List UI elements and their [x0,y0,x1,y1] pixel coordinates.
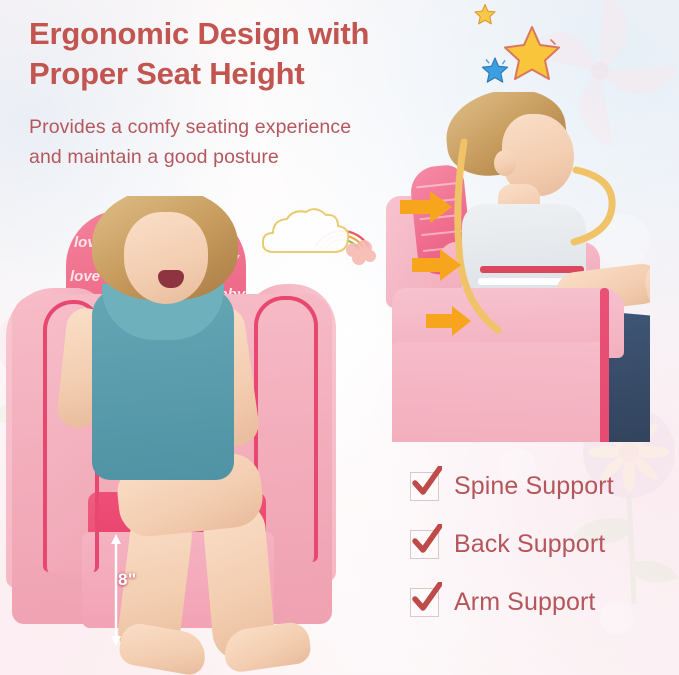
girl-foot-left [117,621,209,675]
list-item[interactable]: Arm Support [410,573,670,631]
checkbox-spine-support[interactable] [410,472,439,501]
feature-label: Arm Support [454,588,595,617]
seat-height-measure-line [108,533,124,647]
page-title-line2: Proper Seat Height [29,54,469,94]
photo-boy-in-chair [378,92,650,442]
star-blue-icon [480,56,510,85]
star-large-icon [502,24,562,82]
feature-label: Spine Support [454,472,614,501]
feature-list: Spine Support Back Support Arm Support [410,457,670,631]
check-icon [412,466,442,500]
star-small-icon [473,3,497,26]
checkbox-arm-support[interactable] [410,588,439,617]
list-item[interactable]: Spine Support [410,457,670,515]
girl-face [124,212,208,304]
check-icon [412,524,442,558]
product-feature-image: Ergonomic Design with Proper Seat Height… [0,0,679,675]
feature-label: Back Support [454,530,605,559]
seat-height-label: 8" [118,570,137,590]
check-icon [412,582,442,616]
photo-girl-in-chair: love baby love baby love baby love baby … [0,196,348,675]
list-item[interactable]: Back Support [410,515,670,573]
checkbox-back-support[interactable] [410,530,439,559]
page-title: Ergonomic Design with Proper Seat Height [29,14,469,94]
chair-piping-side [600,288,609,442]
chair-front-panel [392,342,608,442]
boy-ear [494,150,516,176]
page-title-line1: Ergonomic Design with [29,14,469,54]
